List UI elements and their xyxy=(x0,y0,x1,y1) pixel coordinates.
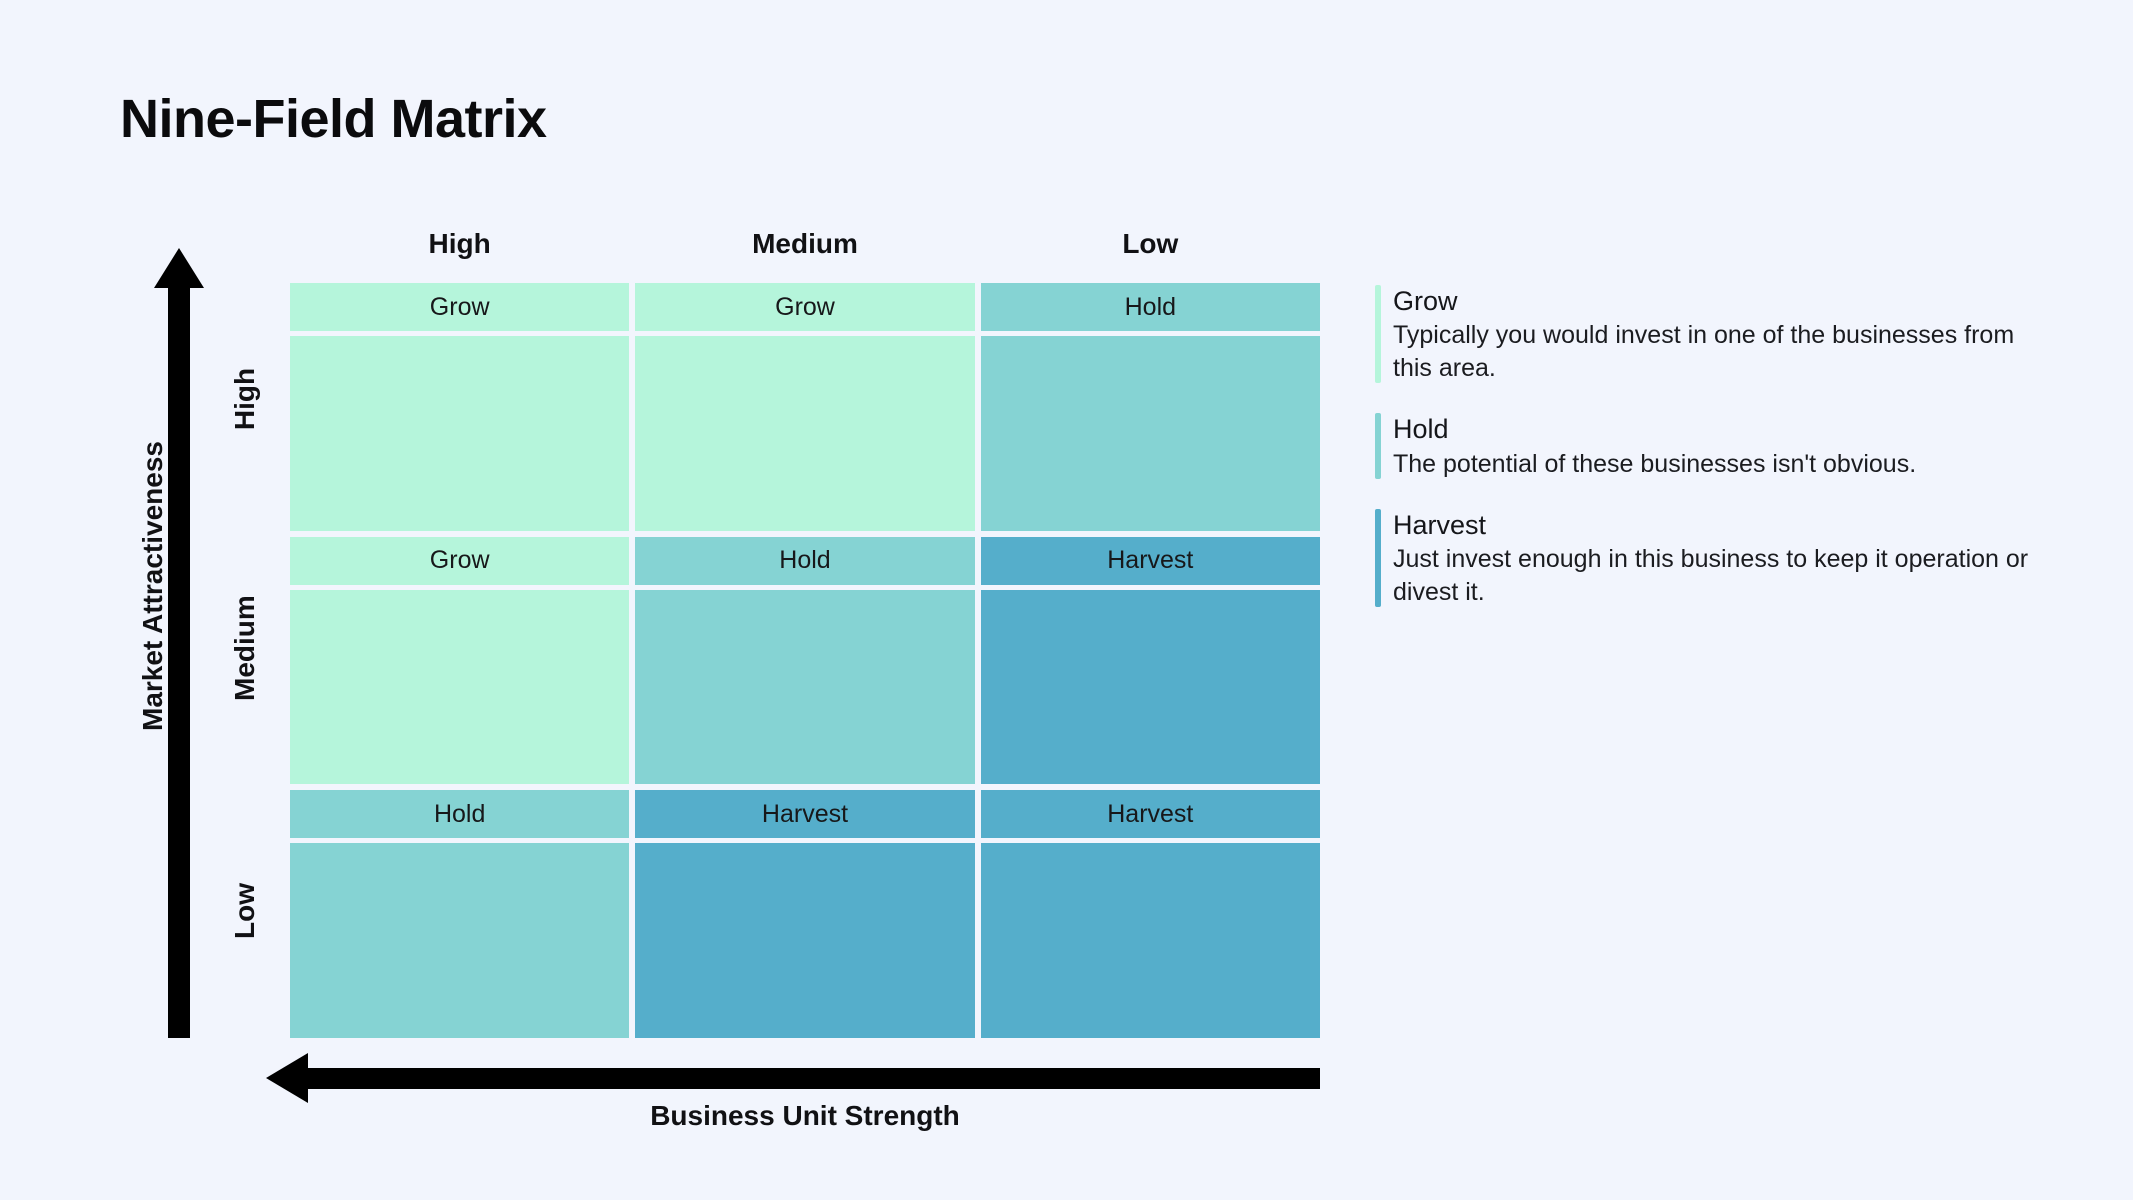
column-header-low: Low xyxy=(981,228,1320,260)
matrix-cell-body[interactable] xyxy=(290,590,629,785)
matrix-row: Grow Hold Harvest xyxy=(290,537,1320,785)
matrix-cell-body[interactable] xyxy=(635,843,974,1038)
matrix-cell-body[interactable] xyxy=(290,336,629,531)
matrix-row-body xyxy=(290,590,1320,785)
matrix-cell-body[interactable] xyxy=(635,590,974,785)
legend-color-bar-hold xyxy=(1375,413,1381,478)
matrix-row: Hold Harvest Harvest xyxy=(290,790,1320,1038)
legend-color-bar-harvest xyxy=(1375,509,1381,607)
column-header-high: High xyxy=(290,228,629,260)
matrix-cell-body[interactable] xyxy=(981,336,1320,531)
matrix-row-label-band: Grow Hold Harvest xyxy=(290,537,1320,585)
matrix-row: Grow Grow Hold xyxy=(290,283,1320,531)
matrix-cell-label[interactable]: Harvest xyxy=(635,790,974,838)
matrix-cell-label[interactable]: Harvest xyxy=(981,790,1320,838)
matrix-cell-label[interactable]: Hold xyxy=(981,283,1320,331)
legend-item-description: Typically you would invest in one of the… xyxy=(1393,319,2033,385)
matrix-cell-body[interactable] xyxy=(981,843,1320,1038)
y-axis-tick-high: High xyxy=(229,354,261,444)
page-title: Nine-Field Matrix xyxy=(120,88,547,150)
matrix-cell-label[interactable]: Hold xyxy=(635,537,974,585)
legend-item-hold[interactable]: Hold The potential of these businesses i… xyxy=(1375,411,2075,480)
matrix-row-label-band: Hold Harvest Harvest xyxy=(290,790,1320,838)
legend-item-description: The potential of these businesses isn't … xyxy=(1393,448,2033,481)
matrix-cell-body[interactable] xyxy=(635,336,974,531)
matrix-row-label-band: Grow Grow Hold xyxy=(290,283,1320,331)
legend: Grow Typically you would invest in one o… xyxy=(1375,283,2075,635)
y-axis-tick-medium: Medium xyxy=(229,611,261,701)
y-axis-title: Market Attractiveness xyxy=(137,411,169,761)
legend-item-title: Hold xyxy=(1393,411,2075,447)
legend-item-title: Grow xyxy=(1393,283,2075,319)
y-axis-tick-low: Low xyxy=(229,866,261,956)
legend-item-description: Just invest enough in this business to k… xyxy=(1393,543,2033,609)
matrix-cell-label[interactable]: Grow xyxy=(635,283,974,331)
matrix-cell-label[interactable]: Harvest xyxy=(981,537,1320,585)
legend-item-harvest[interactable]: Harvest Just invest enough in this busin… xyxy=(1375,507,2075,609)
matrix-cell-label[interactable]: Grow xyxy=(290,283,629,331)
x-axis-arrowhead-icon xyxy=(266,1053,308,1103)
matrix-row-body xyxy=(290,843,1320,1038)
column-header-row: High Medium Low xyxy=(290,228,1320,260)
column-header-medium: Medium xyxy=(635,228,974,260)
matrix-cell-label[interactable]: Grow xyxy=(290,537,629,585)
legend-item-title: Harvest xyxy=(1393,507,2075,543)
legend-item-grow[interactable]: Grow Typically you would invest in one o… xyxy=(1375,283,2075,385)
matrix-cell-body[interactable] xyxy=(981,590,1320,785)
nine-field-matrix: Grow Grow Hold Grow Hold Harvest Hold Ha… xyxy=(290,283,1320,1038)
matrix-row-body xyxy=(290,336,1320,531)
matrix-cell-label[interactable]: Hold xyxy=(290,790,629,838)
x-axis-arrow-shaft xyxy=(305,1068,1320,1089)
y-axis-arrow-shaft xyxy=(168,280,190,1038)
matrix-cell-body[interactable] xyxy=(290,843,629,1038)
x-axis-title: Business Unit Strength xyxy=(290,1100,1320,1132)
legend-color-bar-grow xyxy=(1375,285,1381,383)
